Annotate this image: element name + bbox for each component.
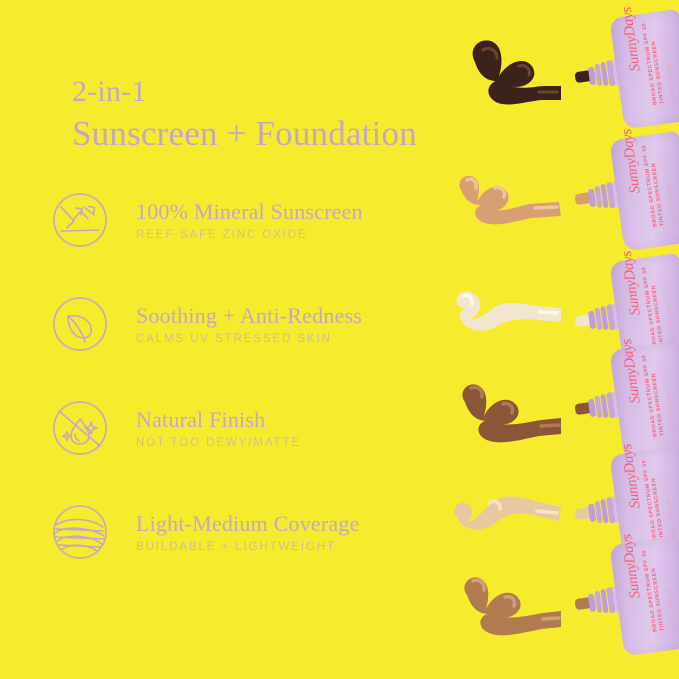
feature-text-block: 100% Mineral Sunscreen REEF-SAFE ZINC OX… <box>136 199 363 241</box>
product-tube[interactable]: SunnyDays BROAD SPECTRUM SPF 30 TINTED S… <box>609 9 679 130</box>
feature-title: 100% Mineral Sunscreen <box>136 199 363 224</box>
feature-title: Natural Finish <box>136 407 301 432</box>
product-unit: SunnyDays BROAD SPECTRUM SPF 30 TINTED S… <box>459 545 679 665</box>
feature-text-block: Natural Finish NOT TOO DEWY/MATTE <box>136 407 301 449</box>
feature-subtitle: REEF-SAFE ZINC OXIDE <box>136 229 363 241</box>
feature-text-block: Soothing + Anti-Redness CALMS UV STRESSE… <box>136 303 362 345</box>
tube-label: SunnyDays BROAD SPECTRUM SPF 30 TINTED S… <box>609 536 679 657</box>
headline-line-2: Sunscreen + Foundation <box>72 113 417 156</box>
feature-text-block: Light-Medium Coverage BUILDABLE + LIGHTW… <box>136 511 360 553</box>
page-title: 2-in-1 Sunscreen + Foundation <box>72 74 417 155</box>
product-unit: SunnyDays BROAD SPECTRUM SPF 30 TINTED S… <box>459 140 679 260</box>
headline-line-1: 2-in-1 <box>72 74 417 111</box>
shade-swatch-rich-brown <box>453 356 583 464</box>
feature-item-natural-finish: Natural Finish NOT TOO DEWY/MATTE <box>50 394 470 462</box>
feature-subtitle: NOT TOO DEWY/MATTE <box>136 437 301 449</box>
leaf-icon <box>50 294 110 354</box>
product-poster: 2-in-1 Sunscreen + Foundation 100% Miner… <box>0 0 679 679</box>
coverage-lines-icon <box>50 502 110 562</box>
product-unit: SunnyDays BROAD SPECTRUM SPF 30 TINTED S… <box>459 18 679 138</box>
tube-label: SunnyDays BROAD SPECTRUM SPF 30 TINTED S… <box>609 9 679 130</box>
shade-swatch-warm-tan <box>453 551 583 659</box>
volume-text: 30 ML / 1 FL OZ <box>666 62 677 103</box>
volume-text: 30 ML / 1 FL OZ <box>666 394 677 435</box>
feature-title: Light-Medium Coverage <box>136 511 360 536</box>
brand-name: SunnyDays <box>617 0 645 72</box>
feature-title: Soothing + Anti-Redness <box>136 303 362 328</box>
feature-subtitle: CALMS UV STRESSED SKIN <box>136 333 362 345</box>
shade-swatch-medium-tan <box>453 146 583 254</box>
product-column: SunnyDays BROAD SPECTRUM SPF 30 TINTED S… <box>459 0 679 679</box>
volume-text: 30 ML / 1 FL OZ <box>666 589 677 630</box>
feature-item-coverage: Light-Medium Coverage BUILDABLE + LIGHTW… <box>50 498 470 566</box>
no-droplet-sparkle-icon <box>50 398 110 458</box>
feature-item-soothing: Soothing + Anti-Redness CALMS UV STRESSE… <box>50 290 470 358</box>
tube-label: SunnyDays BROAD SPECTRUM SPF 30 TINTED S… <box>609 131 679 252</box>
volume-text: 30 ML / 1 FL OZ <box>666 499 677 540</box>
volume-text: 30 ML / 1 FL OZ <box>666 184 677 225</box>
product-tube[interactable]: SunnyDays BROAD SPECTRUM SPF 30 TINTED S… <box>609 131 679 252</box>
uv-reflect-icon <box>50 190 110 250</box>
feature-subtitle: BUILDABLE + LIGHTWEIGHT <box>136 541 360 553</box>
feature-list: 100% Mineral Sunscreen REEF-SAFE ZINC OX… <box>50 186 470 602</box>
feature-item-mineral-sunscreen: 100% Mineral Sunscreen REEF-SAFE ZINC OX… <box>50 186 470 254</box>
product-tube[interactable]: SunnyDays BROAD SPECTRUM SPF 30 TINTED S… <box>609 536 679 657</box>
shade-swatch-deep-espresso <box>453 24 583 132</box>
